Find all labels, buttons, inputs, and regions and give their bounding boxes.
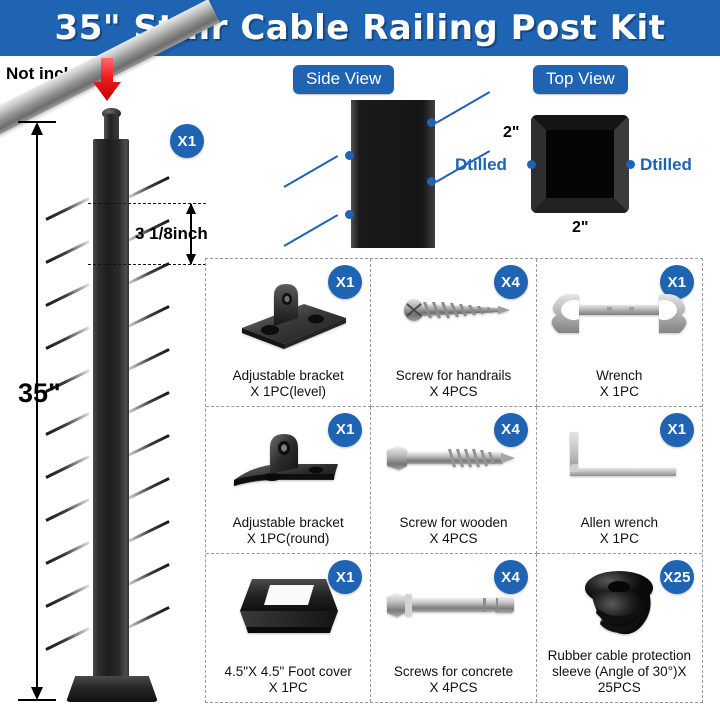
- part-cell[interactable]: X1 Adj: [206, 407, 371, 555]
- adjustable-bracket-round-icon: [206, 415, 370, 501]
- part-caption: Screws for concrete X 4PCS: [394, 664, 513, 696]
- cable-stub: [125, 606, 169, 630]
- cable-stub: [125, 520, 169, 544]
- part-caption: 4.5"X 4.5" Foot cover X 1PC: [224, 664, 351, 696]
- post-count-badge-label: X1: [178, 133, 197, 150]
- foot-cover-icon: [206, 562, 370, 648]
- part-caption: Allen wrench X 1PC: [581, 515, 658, 547]
- top-view-inner-face: [546, 130, 614, 198]
- handrail-screw-icon: [371, 267, 535, 353]
- part-caption: Adjustable bracket X 1PC(level): [233, 368, 344, 400]
- side-view-title: Side View: [293, 65, 394, 94]
- side-view-hole-dot: [345, 210, 354, 219]
- height-arrow-down-icon: [30, 686, 44, 700]
- part-cell[interactable]: X1: [206, 554, 371, 702]
- infographic-canvas: 35" Stair Cable Railing Post Kit Not inc…: [0, 0, 720, 720]
- cable-stub: [125, 176, 169, 200]
- cable-stub: [45, 455, 89, 479]
- post-base-plate: [66, 676, 158, 702]
- rubber-cable-sleeve-icon: [537, 562, 702, 648]
- post-count-badge: X1: [170, 124, 204, 158]
- side-view-cable-line: [284, 214, 339, 247]
- cable-stub: [125, 262, 169, 286]
- part-caption-line1: Allen wrench: [581, 515, 658, 531]
- part-cell[interactable]: X1 Allen wrench X 1PC: [537, 407, 702, 555]
- part-caption-line2: X 4PCS: [396, 384, 512, 400]
- spacing-arrow-down-icon: [185, 253, 197, 265]
- red-down-arrow-icon: [92, 58, 122, 102]
- part-caption-line2: X 1PC: [581, 531, 658, 547]
- cable-stub: [125, 563, 169, 587]
- part-cell[interactable]: X4: [371, 259, 536, 407]
- part-caption-line1: Screw for handrails: [396, 368, 512, 384]
- part-caption-line2: X 1PC(level): [233, 384, 344, 400]
- top-view-left-dtilled-label: Dtilled: [455, 155, 507, 175]
- part-caption-line1: Screw for wooden: [399, 515, 507, 531]
- cable-stub: [45, 541, 89, 565]
- allen-wrench-icon: [537, 415, 702, 501]
- cable-stub: [125, 391, 169, 415]
- cable-stub: [45, 584, 89, 608]
- top-view-post: [531, 115, 629, 213]
- side-view-cable-line: [284, 155, 339, 188]
- part-caption-line2: X 4PCS: [394, 680, 513, 696]
- top-view-hole-dot-right: [626, 160, 635, 169]
- cable-stub: [45, 283, 89, 307]
- part-caption-line1: Wrench: [596, 368, 642, 384]
- part-caption: Screw for wooden X 4PCS: [399, 515, 507, 547]
- part-caption: Screw for handrails X 4PCS: [396, 368, 512, 400]
- height-arrow-up-icon: [30, 122, 44, 136]
- side-view-hole-dot: [427, 177, 436, 186]
- wrench-icon: [537, 267, 702, 353]
- part-cell[interactable]: X4: [371, 554, 536, 702]
- side-view-hole-dot: [427, 118, 436, 127]
- top-view-height-label: 2": [503, 124, 519, 142]
- concrete-screw-icon: [371, 562, 535, 648]
- post-body: [93, 139, 129, 685]
- post-height-label: 35": [18, 378, 61, 409]
- part-cell[interactable]: X1: [537, 259, 702, 407]
- cable-stub: [125, 477, 169, 501]
- part-caption-line2: X 1PC: [224, 680, 351, 696]
- part-caption-line1: Adjustable bracket: [233, 368, 344, 384]
- cable-stub: [125, 434, 169, 458]
- part-caption: Adjustable bracket X 1PC(round): [233, 515, 344, 547]
- adjustable-bracket-level-icon: [206, 267, 370, 353]
- cable-stub: [45, 412, 89, 436]
- cable-stub: [45, 498, 89, 522]
- top-view-width-label: 2": [572, 219, 588, 237]
- part-caption-line2: X 4PCS: [399, 531, 507, 547]
- header-bar: 35" Stair Cable Railing Post Kit: [0, 0, 720, 56]
- cable-stub: [125, 348, 169, 372]
- part-cell[interactable]: X4: [371, 407, 536, 555]
- top-view-hole-dot-left: [527, 160, 536, 169]
- part-caption-line2: sleeve (Angle of 30°)X 25PCS: [540, 664, 699, 696]
- cable-stub: [45, 240, 89, 264]
- part-cell[interactable]: X1: [206, 259, 371, 407]
- post-neck: [104, 114, 119, 142]
- spacing-arrow-up-icon: [185, 203, 197, 215]
- part-caption-line2: X 1PC: [596, 384, 642, 400]
- height-dim-line: [36, 124, 38, 698]
- top-view-right-dtilled-label: Dtilled: [640, 155, 692, 175]
- side-view-post: [351, 100, 435, 248]
- part-caption-line2: X 1PC(round): [233, 531, 344, 547]
- parts-grid: X1: [205, 258, 703, 703]
- cable-stub: [45, 326, 89, 350]
- part-caption: Wrench X 1PC: [596, 368, 642, 400]
- cable-spacing-label: 3 1/8inch: [135, 224, 208, 244]
- top-view-title: Top View: [533, 65, 628, 94]
- cable-stub: [125, 305, 169, 329]
- part-caption-line1: Rubber cable protection: [540, 648, 699, 664]
- part-caption-line1: Screws for concrete: [394, 664, 513, 680]
- cable-stub: [45, 627, 89, 651]
- part-caption-line1: 4.5"X 4.5" Foot cover: [224, 664, 351, 680]
- side-view-hole-dot: [345, 151, 354, 160]
- part-caption-line1: Adjustable bracket: [233, 515, 344, 531]
- wood-lag-screw-icon: [371, 415, 535, 501]
- part-caption: Rubber cable protection sleeve (Angle of…: [540, 648, 699, 696]
- part-cell[interactable]: X25 Rubber cable protection: [537, 554, 702, 702]
- cable-stub: [45, 197, 89, 221]
- side-view-cable-line: [436, 91, 491, 124]
